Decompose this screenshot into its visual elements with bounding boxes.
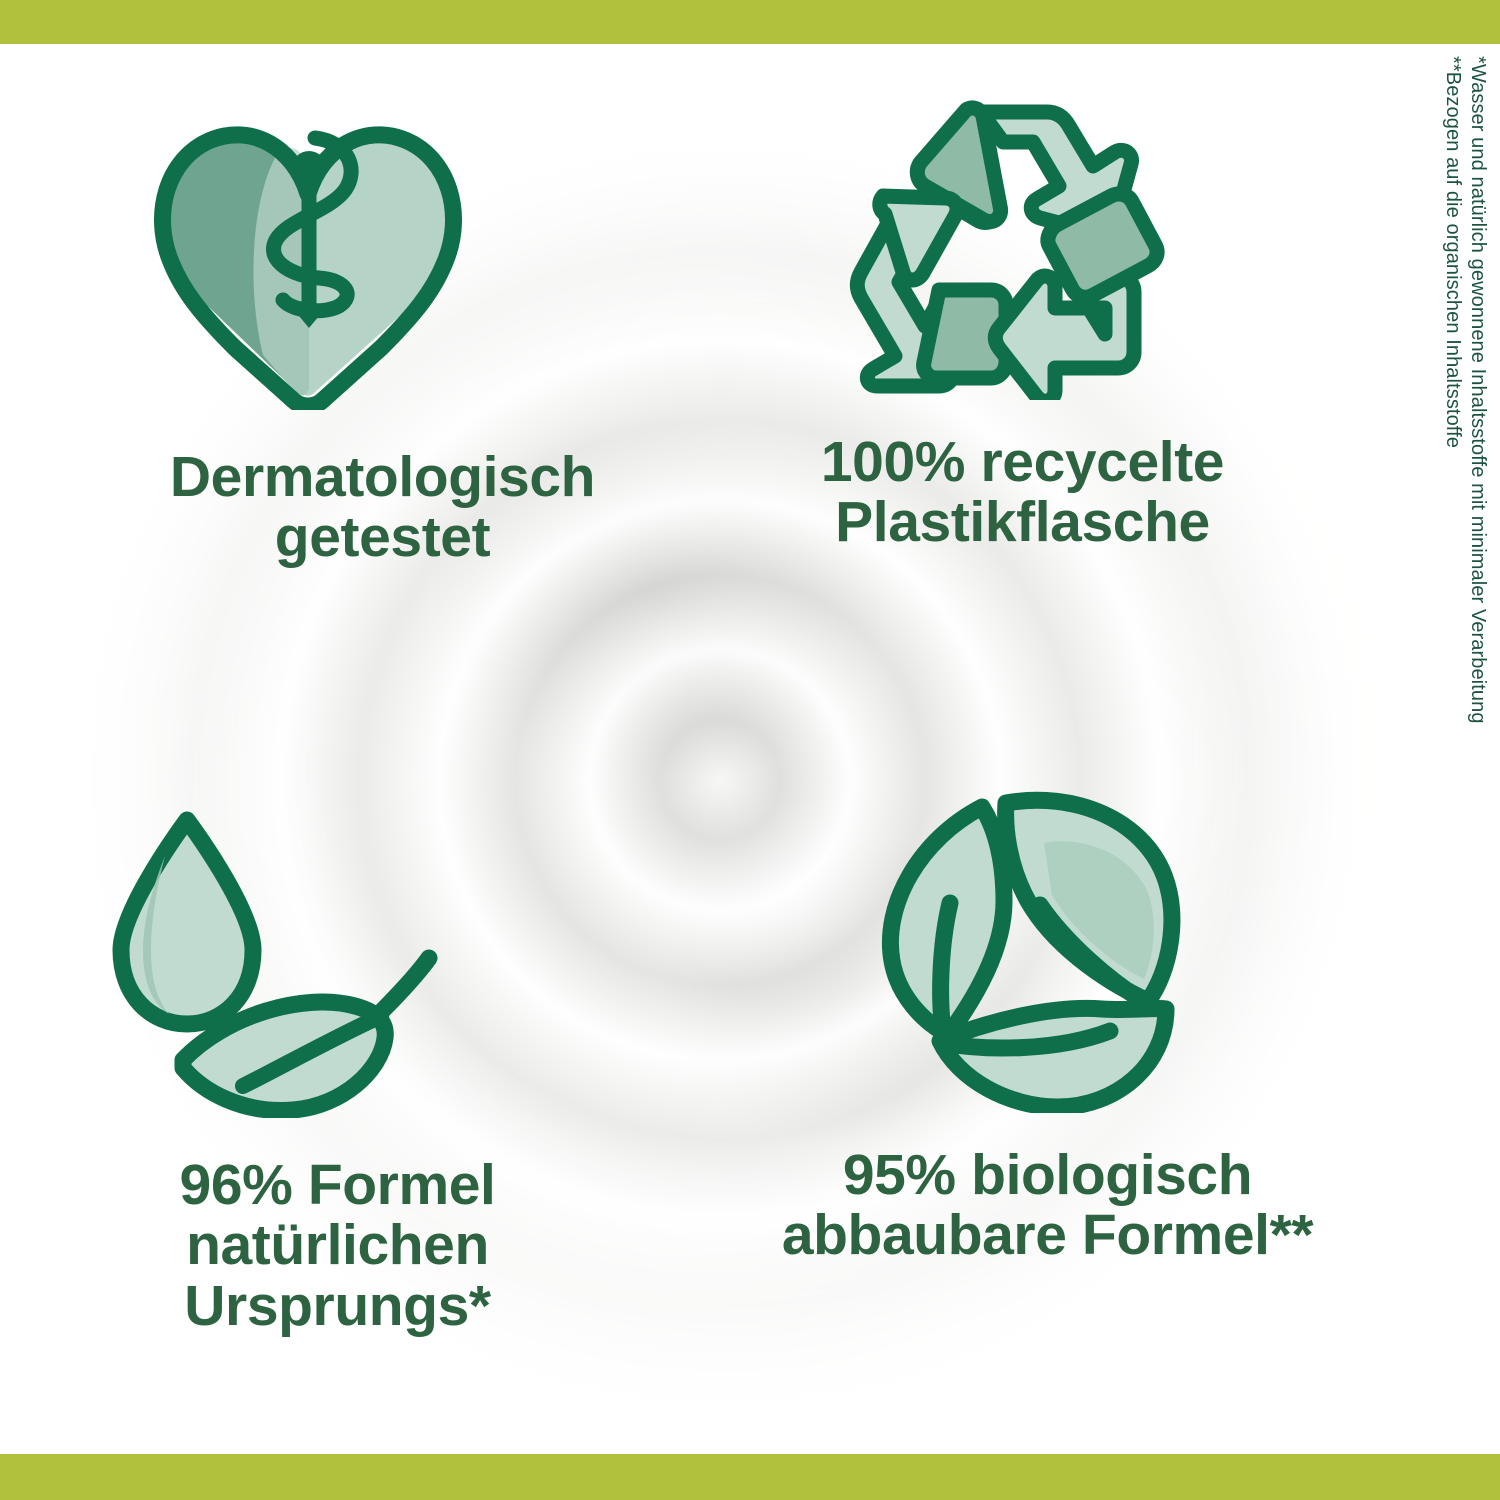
feature-label: Dermatologisch getestet	[170, 447, 595, 568]
droplet-leaf-icon	[93, 755, 453, 1143]
footnote-double-asterisk: **Bezogen auf die organischen Inhaltssto…	[1442, 56, 1463, 448]
feature-recycelte-plastikflasche: 100% recycelte Plastikflasche	[725, 70, 1390, 755]
feature-formel-natuerlichen-ursprungs: 96% Formel natürlichen Ursprungs*	[60, 755, 725, 1440]
heart-caduceus-icon	[143, 70, 473, 425]
bottom-brand-bar	[0, 1454, 1500, 1500]
footnotes-block: *Wasser und natürlich gewonnene Inhaltss…	[1442, 56, 1488, 1396]
feature-label: 100% recycelte Plastikflasche	[821, 432, 1224, 553]
feature-label: 96% Formel natürlichen Ursprungs*	[180, 1155, 496, 1336]
footnote-single-asterisk: *Wasser und natürlich gewonnene Inhaltss…	[1467, 56, 1488, 724]
three-leaves-circle-icon	[858, 755, 1208, 1133]
top-brand-bar	[0, 0, 1500, 44]
feature-biologisch-abbaubare-formel: 95% biologisch abbaubare Formel**	[725, 755, 1390, 1440]
feature-grid: Dermatologisch getestet	[60, 70, 1390, 1440]
recycling-icon	[833, 70, 1173, 410]
feature-dermatologisch-getestet: Dermatologisch getestet	[60, 70, 725, 755]
promo-graphic: Dermatologisch getestet	[0, 0, 1500, 1500]
feature-label: 95% biologisch abbaubare Formel**	[782, 1145, 1313, 1266]
